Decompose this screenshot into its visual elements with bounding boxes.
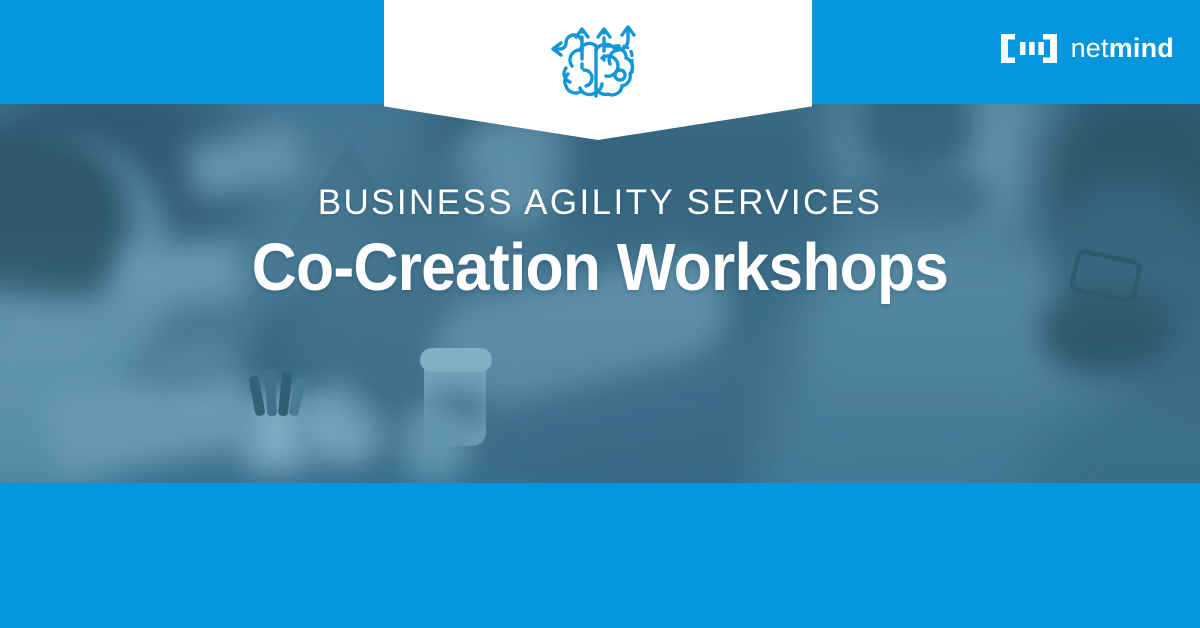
photo-shape-beard-right-1 xyxy=(852,164,992,244)
bottom-brand-band xyxy=(0,483,1200,628)
photo-shape-hand-center xyxy=(400,404,470,483)
brain-innovation-icon xyxy=(538,8,658,108)
netmind-logo[interactable]: netmind xyxy=(1001,34,1174,63)
photo-shape-coffee-lid xyxy=(420,348,492,372)
netmind-bracket-mark xyxy=(1001,34,1057,63)
photo-shape-arm-right-1 xyxy=(760,394,1040,483)
netmind-wordmark-bold: mind xyxy=(1109,33,1174,63)
netmind-wordmark-light: net xyxy=(1071,33,1109,63)
photo-canvas xyxy=(0,104,1200,483)
hero-photo xyxy=(0,104,1200,483)
banner-root: netmind BUSINESS AGILITY SERVICES Co-Cre… xyxy=(0,0,1200,628)
photo-shape-beard-right-2 xyxy=(1040,289,1170,379)
netmind-wordmark: netmind xyxy=(1071,35,1174,62)
photo-shape-paper-1 xyxy=(117,238,243,310)
